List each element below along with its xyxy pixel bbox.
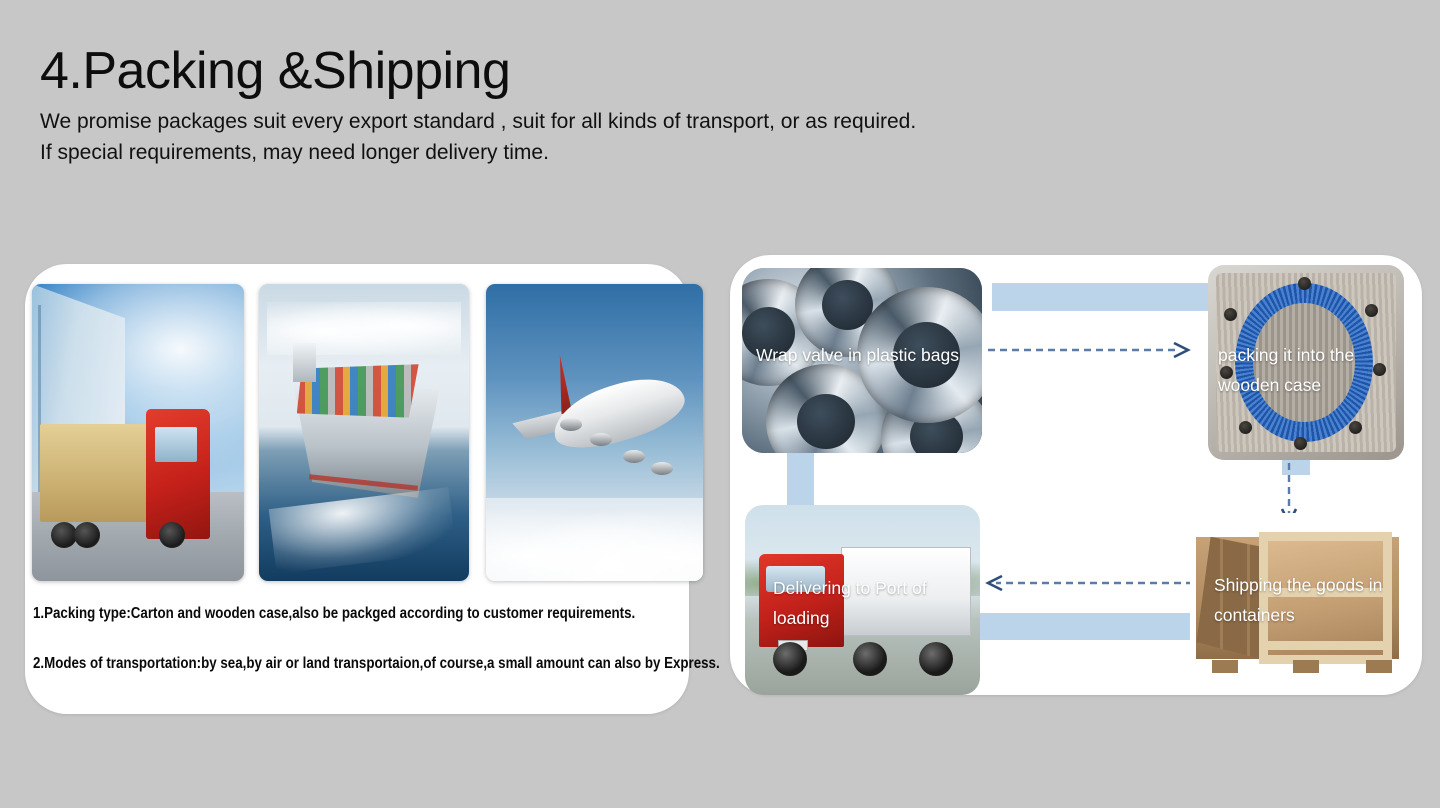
- connector-bar-bottom: [978, 613, 1193, 640]
- process-flow-card: Wrap valve in plastic bags packing it in…: [730, 255, 1422, 695]
- flow-node-delivering-label: Delivering to Port of loading: [773, 573, 980, 633]
- flow-node-containers[interactable]: Shipping the goods in containers: [1190, 513, 1405, 683]
- arrow-left-icon: [978, 573, 1193, 593]
- flow-node-wrap-valve[interactable]: Wrap valve in plastic bags: [742, 268, 982, 453]
- packing-note-1: 1.Packing type:Carton and wooden case,al…: [33, 604, 590, 624]
- truck-photo: [32, 284, 244, 581]
- subtitle: We promise packages suit every export st…: [40, 106, 1240, 168]
- header: 4.Packing &Shipping We promise packages …: [40, 40, 1240, 168]
- flow-node-containers-label: Shipping the goods in containers: [1214, 570, 1403, 630]
- flow-node-wooden-case-label: packing it into the wooden case: [1218, 340, 1390, 400]
- ship-photo: [259, 284, 469, 581]
- subtitle-line-1: We promise packages suit every export st…: [40, 106, 1240, 137]
- packing-notes: 1.Packing type:Carton and wooden case,al…: [33, 604, 681, 674]
- airplane-photo: [486, 284, 703, 581]
- flow-node-wrap-valve-label: Wrap valve in plastic bags: [756, 340, 967, 370]
- transport-card: 1.Packing type:Carton and wooden case,al…: [25, 264, 689, 714]
- transport-gallery: [25, 264, 689, 594]
- flow-node-wooden-case[interactable]: packing it into the wooden case: [1208, 265, 1404, 460]
- page-title: 4.Packing &Shipping: [40, 40, 1240, 102]
- subtitle-line-2: If special requirements, may need longer…: [40, 137, 1240, 168]
- arrow-right-icon: [988, 340, 1198, 360]
- connector-bar-top: [992, 283, 1216, 311]
- flow-node-delivering[interactable]: Delivering to Port of loading: [745, 505, 980, 695]
- packing-note-2: 2.Modes of transportation:by sea,by air …: [33, 654, 590, 674]
